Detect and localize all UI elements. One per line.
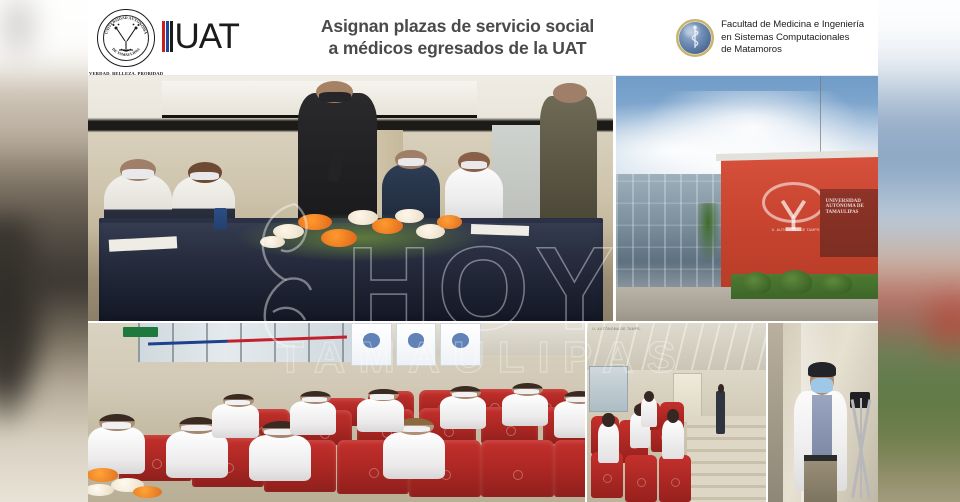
faculty-line-3: de Matamoros: [721, 44, 864, 57]
campus-building-photo: U. AUTÓNOMA DE TAMPS. UNIVERSIDAD AUTÓNO…: [616, 76, 878, 321]
headline-line-2: a médicos egresados de la UAT: [245, 37, 670, 59]
flower: [88, 484, 114, 496]
attendee-mask: [181, 425, 212, 431]
hall-attendee-coat: [641, 398, 657, 427]
backdrop-left-blur: [0, 0, 88, 502]
corridor-side-wall: [768, 323, 783, 502]
campus-scene: U. AUTÓNOMA DE TAMPS. UNIVERSIDAD AUTÓNO…: [616, 76, 878, 321]
student-scene: [768, 323, 878, 502]
hall-seat: [659, 455, 691, 502]
standing-attendee-figure: [540, 96, 598, 223]
attendee-coat: [383, 432, 445, 478]
news-graphic: UNIVERSIDAD AUTONOMA DE TAMAULIPAS: [0, 0, 960, 502]
content-column: UNIVERSIDAD AUTONOMA DE TAMAULIPAS: [88, 0, 878, 502]
shrub: [778, 270, 812, 295]
wordmark-bars-icon: [162, 21, 173, 52]
water-bottle-icon: [214, 208, 227, 230]
exit-sign-icon: [123, 327, 158, 338]
flower: [133, 486, 161, 498]
student-face-mask: [811, 378, 833, 392]
student-belt: [804, 455, 837, 460]
attendee-mask: [225, 400, 250, 405]
uat-wordmark: UAT: [162, 19, 239, 54]
speaker-mask: [319, 92, 351, 102]
blurred-backdrop-right: [878, 0, 960, 502]
attendee-mask: [566, 397, 585, 402]
attendee-coat: [440, 396, 487, 428]
attendee-coat: [554, 401, 585, 437]
panelist-mask: [122, 169, 154, 179]
flower: [88, 468, 118, 481]
foreground-flowers: [88, 455, 192, 502]
hall-attendee-coat: [662, 420, 683, 459]
hall-scene: U. AUTÓNOMA DE TAMPS.: [587, 323, 766, 502]
facade-signage: UNIVERSIDAD AUTÓNOMA DE TAMAULIPAS: [826, 199, 878, 216]
shrub: [820, 274, 851, 294]
auditorium-scene: [88, 323, 585, 502]
seal-artwork: UNIVERSIDAD AUTONOMA DE TAMAULIPAS: [97, 9, 155, 67]
standing-attendee-head: [553, 83, 587, 103]
hall-seating-photo: U. AUTÓNOMA DE TAMPS.: [587, 323, 766, 502]
standing-person: [716, 391, 725, 434]
banner: [440, 323, 480, 366]
attendee-coat: [290, 401, 337, 435]
header: UNIVERSIDAD AUTONOMA DE TAMAULIPAS: [88, 0, 878, 76]
backdrop-right-art: [878, 0, 960, 502]
attendee-coat: [249, 435, 311, 481]
hall-steps: [687, 416, 766, 502]
uat-seal-icon: UNIVERSIDAD AUTONOMA DE TAMAULIPAS: [97, 9, 155, 67]
hall-attendee-head: [602, 413, 615, 427]
svg-text:UNIVERSIDAD AUTONOMA: UNIVERSIDAD AUTONOMA: [104, 16, 147, 35]
student-shirt: [812, 395, 832, 456]
attendee-mask: [514, 389, 539, 394]
floral-arrangement: [256, 196, 466, 260]
hall-attendee-coat: [598, 423, 619, 462]
student-cap-icon: [808, 362, 837, 376]
panelist-mask: [398, 158, 424, 166]
hall-window: [589, 366, 628, 413]
emblem-glyph: [762, 182, 825, 245]
hall-seat: [625, 455, 657, 502]
palm-tree: [695, 203, 721, 267]
brand-left: UNIVERSIDAD AUTONOMA DE TAMAULIPAS: [88, 9, 239, 67]
camera-timestamp-text: U. AUTÓNOMA DE TAMPS.: [592, 327, 641, 331]
banner: [351, 323, 391, 366]
standing-person-head: [718, 384, 724, 393]
shrub: [742, 272, 771, 294]
attendee-mask: [302, 397, 327, 402]
uat-wordmark-text: UAT: [175, 19, 239, 54]
hall-attendee-head: [644, 391, 654, 402]
camera-tripod-icon: [847, 398, 873, 498]
student-with-tripod-photo: [768, 323, 878, 502]
brand-right: Facultad de Medicina e Ingeniería en Sis…: [676, 19, 878, 57]
faculty-line-1: Facultad de Medicina e Ingeniería: [721, 19, 864, 32]
wall-emblem-icon: [762, 182, 825, 223]
emblem-highlight: [684, 25, 699, 37]
backdrop-left-art: [0, 0, 88, 502]
student-pants: [804, 459, 837, 502]
faculty-line-2: en Sistemas Computacionales: [721, 32, 864, 45]
auditorium-seat: [481, 440, 553, 497]
antenna-pole: [820, 76, 821, 159]
attendee-mask: [452, 392, 477, 397]
attendee-coat: [502, 394, 549, 426]
caduceus-emblem-icon: [676, 19, 714, 57]
attendee-coat: [357, 399, 404, 433]
attendee-coat: [212, 404, 259, 438]
panelist-mask: [190, 172, 219, 181]
blurred-backdrop-left: [0, 0, 88, 502]
attendee-mask: [370, 394, 395, 399]
headline: Asignan plazas de servicio social a médi…: [239, 15, 676, 61]
photo-collage: U. AUTÓNOMA DE TAMPS. UNIVERSIDAD AUTÓNO…: [88, 76, 878, 502]
auditorium-audience-photo: [88, 323, 585, 502]
faculty-name: Facultad de Medicina e Ingeniería en Sis…: [721, 19, 864, 57]
wall-banners: [351, 323, 480, 366]
press-table-photo: [88, 76, 613, 321]
facade-signage-line-3: TAMAULIPAS: [826, 210, 878, 216]
banner: [396, 323, 436, 366]
attendee-mask: [102, 422, 131, 428]
press-table-scene: [88, 76, 613, 321]
auditorium-seat: [554, 440, 585, 497]
headline-line-1: Asignan plazas de servicio social: [245, 15, 670, 37]
backdrop-right-blur: [878, 0, 960, 502]
panelist-mask: [461, 161, 487, 169]
